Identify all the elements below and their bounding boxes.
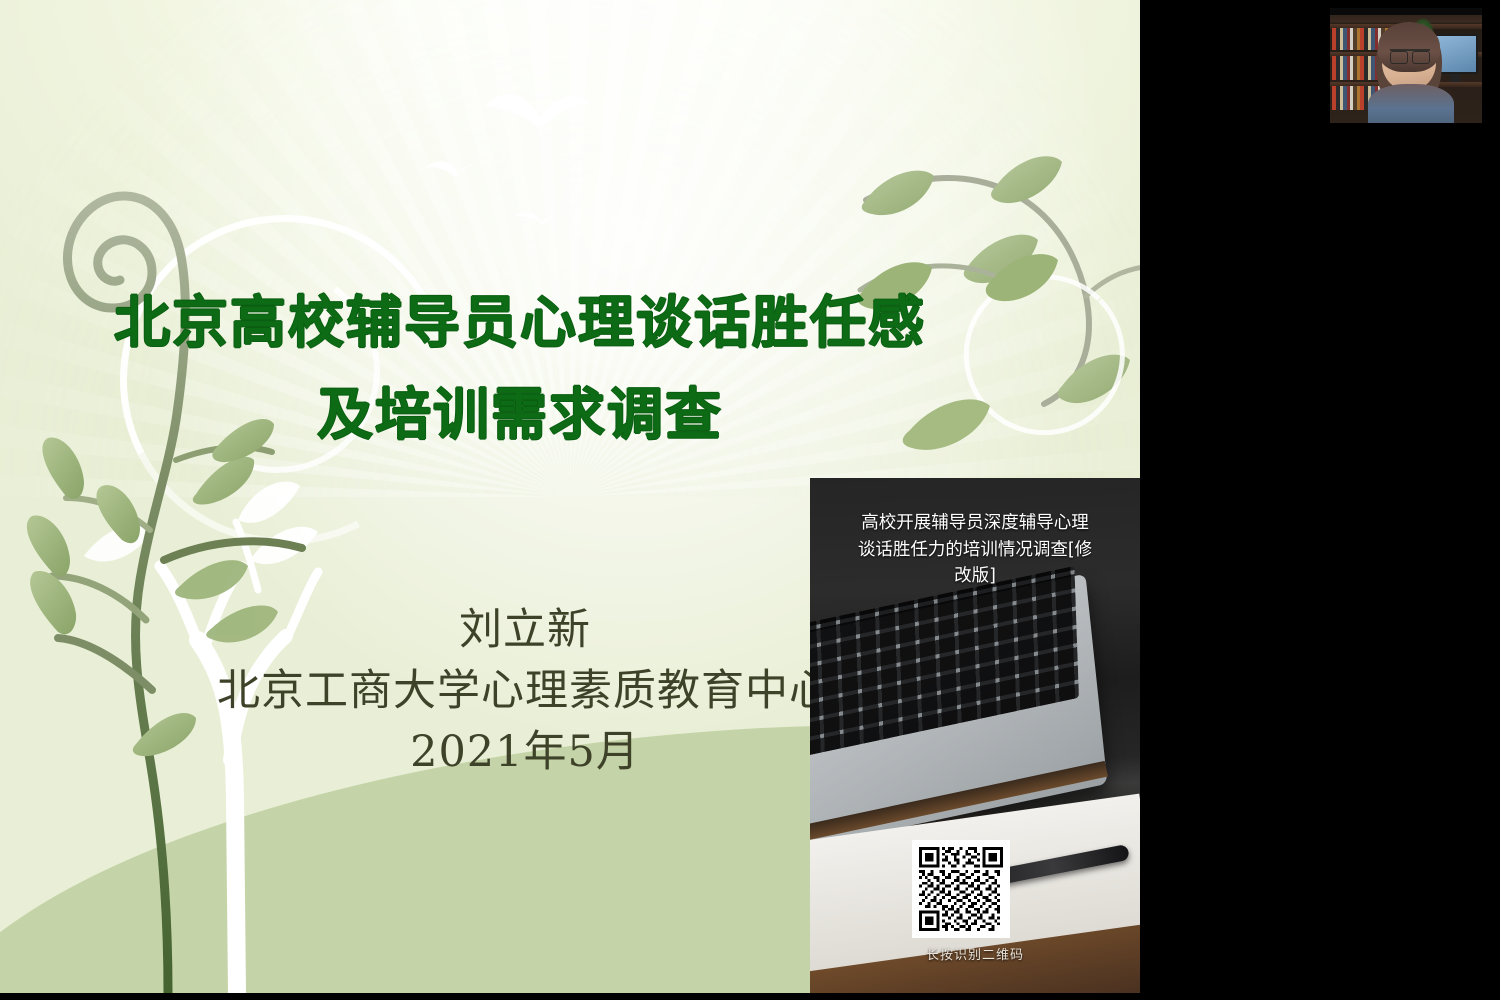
slide-author-block: 刘立新 北京工商大学心理素质教育中心 2021年5月	[130, 600, 920, 783]
title-line-1: 北京高校辅导员心理谈话胜任感	[0, 288, 1040, 360]
presenter-glasses	[1390, 49, 1430, 60]
video-top-letterbox	[1330, 8, 1482, 15]
bottom-letterbox	[0, 993, 1500, 1000]
slide-title: 北京高校辅导员心理谈话胜任感 及培训需求调查	[0, 288, 1040, 451]
monitor-stand	[1450, 74, 1460, 82]
qr-code-caption: 长按识别二维码	[810, 944, 1140, 963]
title-line-2: 及培训需求调查	[0, 380, 1040, 452]
meeting-stage: 北京高校辅导员心理谈话胜任感 及培训需求调查 刘立新 北京工商大学心理素质教育中…	[0, 0, 1500, 1000]
author-name: 刘立新	[130, 600, 920, 661]
presentation-slide: 北京高校辅导员心理谈话胜任感 及培训需求调查 刘立新 北京工商大学心理素质教育中…	[0, 0, 1140, 993]
speaker-video-thumbnail[interactable]	[1330, 8, 1482, 123]
bird-small-icon	[424, 158, 476, 182]
presentation-date: 2021年5月	[130, 722, 920, 783]
presenter-torso	[1368, 84, 1454, 123]
qr-code-glyph	[919, 847, 1003, 931]
survey-poster-image: 高校开展辅导员深度辅导心理 谈话胜任力的培训情况调查[修 改版]	[810, 478, 1140, 993]
poster-caption-line-3: 改版]	[828, 563, 1122, 590]
qr-code[interactable]	[912, 840, 1010, 938]
author-affiliation: 北京工商大学心理素质教育中心	[130, 661, 920, 722]
poster-caption-line-1: 高校开展辅导员深度辅导心理	[828, 510, 1122, 537]
poster-caption: 高校开展辅导员深度辅导心理 谈话胜任力的培训情况调查[修 改版]	[828, 510, 1122, 590]
bird-large-icon	[482, 88, 592, 134]
bird-tiny-icon	[512, 208, 562, 228]
presenter-hair-top	[1378, 22, 1440, 72]
poster-caption-line-2: 谈话胜任力的培训情况调查[修	[828, 537, 1122, 564]
